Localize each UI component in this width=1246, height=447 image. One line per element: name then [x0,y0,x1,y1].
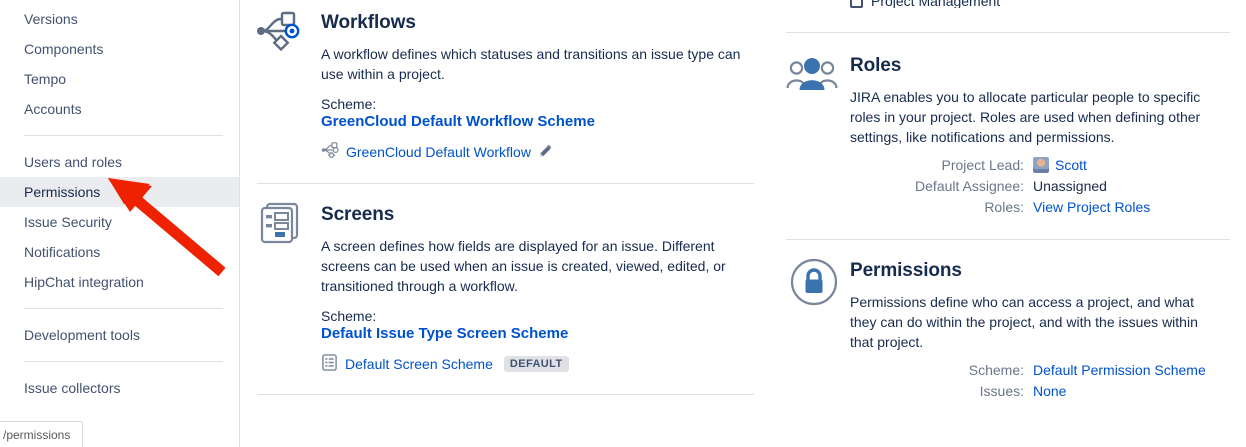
field-value: Default Permission Scheme [1033,362,1206,378]
scheme-label: Scheme: [321,96,770,112]
card-title: Workflows [321,12,770,34]
sidebar-item-issue-collectors[interactable]: Issue collectors [0,373,239,403]
field-row-scheme: Scheme: Default Permission Scheme [850,362,1246,378]
sidebar-item-label: Notifications [24,244,100,260]
sidebar-item-notifications[interactable]: Notifications [0,237,239,267]
card-description: A workflow defines which statuses and tr… [321,44,751,84]
card-title: Screens [321,204,770,226]
field-value: View Project Roles [1033,199,1150,215]
project-lead-link[interactable]: Scott [1055,157,1087,173]
sidebar-divider [24,135,223,136]
roles-card: Roles JIRA enables you to allocate parti… [770,33,1246,215]
sidebar-item-label: Issue Security [24,214,112,230]
pencil-icon[interactable] [538,143,553,161]
project-settings-sidebar: Versions Components Tempo Accounts Users… [0,0,240,447]
workflows-card: Workflows A workflow defines which statu… [241,0,770,161]
permission-scheme-link[interactable]: Default Permission Scheme [1033,362,1206,378]
sidebar-item-development-tools[interactable]: Development tools [0,320,239,350]
browser-status-bar: /permissions [0,421,83,447]
screen-small-icon [321,354,338,374]
field-label: Issues: [850,383,1033,399]
sidebar-item-tempo[interactable]: Tempo [0,64,239,94]
field-label: Roles: [850,199,1033,215]
screens-icon [257,202,303,253]
field-row-project-lead: Project Lead: Scott [850,157,1246,173]
sidebar-item-accounts[interactable]: Accounts [0,94,239,124]
card-description: Permissions define who can access a proj… [850,292,1220,352]
scheme-label: Scheme: [321,308,770,324]
field-label: Project Lead: [850,157,1033,173]
status-bar-url: /permissions [3,428,70,442]
workflow-small-icon [321,142,339,161]
sidebar-item-label: HipChat integration [24,274,144,290]
field-row-roles: Roles: View Project Roles [850,199,1246,215]
workflow-link[interactable]: GreenCloud Default Workflow [346,144,531,160]
view-project-roles-link[interactable]: View Project Roles [1033,199,1150,215]
page-root: Versions Components Tempo Accounts Users… [0,0,1246,447]
card-description: JIRA enables you to allocate particular … [850,87,1222,147]
sidebar-item-label: Permissions [24,184,100,200]
right-column: Project Management Roles JIRA enabl [770,0,1246,447]
field-row-issues: Issues: None [850,383,1246,399]
card-description: A screen defines how fields are displaye… [321,236,753,296]
sidebar-item-label: Versions [24,11,78,27]
field-label: Scheme: [850,362,1033,378]
sidebar-divider [24,308,223,309]
project-management-checkbox-row[interactable]: Project Management [770,0,1246,8]
checkbox-label: Project Management [871,0,1000,8]
sidebar-item-users-and-roles[interactable]: Users and roles [0,147,239,177]
workflow-scheme-link[interactable]: GreenCloud Default Workflow Scheme [321,113,595,130]
sidebar-item-label: Development tools [24,327,140,343]
sidebar-item-hipchat-integration[interactable]: HipChat integration [0,267,239,297]
middle-column: Workflows A workflow defines which statu… [241,0,770,447]
sidebar-item-versions[interactable]: Versions [0,4,239,34]
sidebar-item-issue-security[interactable]: Issue Security [0,207,239,237]
sidebar-item-label: Tempo [24,71,66,87]
field-value: Scott [1033,157,1087,173]
field-row-default-assignee: Default Assignee: Unassigned [850,178,1246,194]
sidebar-item-permissions[interactable]: Permissions [0,177,239,207]
screen-item-row: Default Screen Scheme DEFAULT [321,354,770,374]
field-value: Unassigned [1033,178,1107,194]
status-badge: DEFAULT [504,356,569,372]
card-title: Roles [850,55,1246,77]
lock-icon [790,258,838,311]
sidebar-divider [24,361,223,362]
card-title: Permissions [850,260,1246,282]
checkbox-unchecked-icon[interactable] [850,0,863,8]
field-label: Default Assignee: [850,178,1033,194]
sidebar-item-label: Issue collectors [24,380,120,396]
sidebar-item-components[interactable]: Components [0,34,239,64]
user-avatar [1033,157,1049,173]
permissions-card: Permissions Permissions define who can a… [770,240,1246,399]
sidebar-item-label: Components [24,41,103,57]
section-divider [257,394,754,395]
screen-scheme-item-link[interactable]: Default Screen Scheme [345,356,493,372]
people-icon [786,55,838,102]
sidebar-item-label: Users and roles [24,154,122,170]
workflow-icon [255,10,303,57]
field-value: None [1033,383,1066,399]
workflow-item-row: GreenCloud Default Workflow [321,142,770,161]
screens-card: Screens A screen defines how fields are … [241,184,770,374]
screen-scheme-link[interactable]: Default Issue Type Screen Scheme [321,325,568,342]
sidebar-item-label: Accounts [24,101,82,117]
issues-security-link[interactable]: None [1033,383,1066,399]
